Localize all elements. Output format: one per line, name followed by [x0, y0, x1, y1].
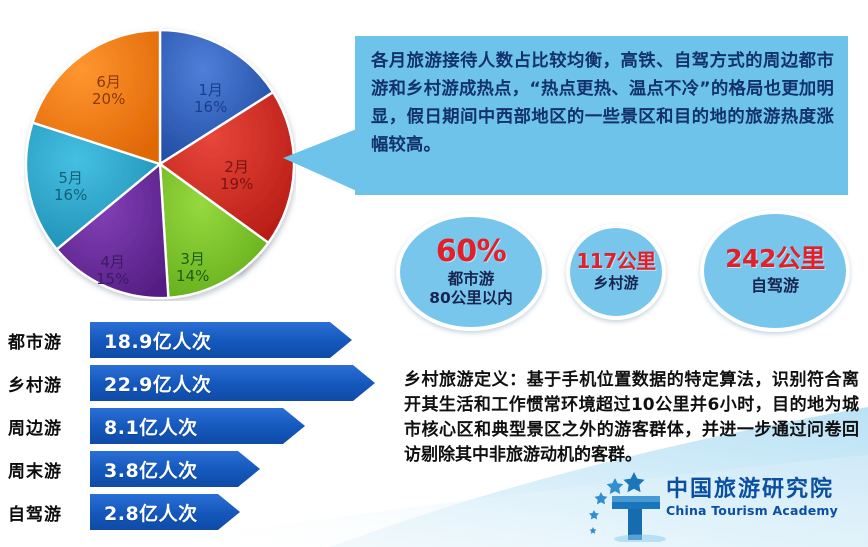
bar-category-label: 周边游 [8, 408, 86, 444]
badge-subtitle-line1: 都市游 [448, 270, 495, 289]
bar-arrow-shape: 22.9亿人次 [90, 365, 375, 401]
badge-headline-value: 60% [436, 237, 506, 267]
bar-value-label: 2.8亿人次 [104, 499, 198, 526]
bar-row: 自驾游 2.8亿人次 [0, 494, 395, 537]
stat-badge-urban-travel: 60% 都市游 80公里以内 [396, 213, 546, 331]
bar-row: 周末游 3.8亿人次 [0, 451, 395, 494]
china-tourism-academy-logo: 中国旅游研究院 China Tourism Academy [588, 470, 860, 542]
bar-category-label: 乡村游 [8, 365, 86, 401]
bar-value-label: 8.1亿人次 [104, 413, 198, 440]
bar-arrow-shape: 18.9亿人次 [90, 322, 352, 358]
bar-value-label: 18.9亿人次 [104, 327, 211, 354]
stat-badge-selfdrive-travel: 242公里 自驾游 [700, 210, 850, 332]
bar-row: 都市游 18.9亿人次 [0, 322, 395, 365]
travel-type-arrow-bar-chart: 都市游 18.9亿人次 乡村游 22.9亿人次 周边游 8.1亿人次 周末游 3… [0, 322, 395, 537]
bar-category-label: 都市游 [8, 322, 86, 358]
pie-chart-svg [24, 26, 296, 301]
stat-badge-rural-travel: 117公里 乡村游 [566, 224, 666, 320]
infographic-canvas: 1月 16% 2月 19% 3月 14% 4月 15% 5月 16% 6月 20… [0, 0, 868, 547]
logo-wordmark: 中国旅游研究院 China Tourism Academy [666, 478, 862, 518]
bar-category-label: 周末游 [8, 451, 86, 487]
badge-headline-value: 117公里 [576, 251, 655, 271]
rural-tourism-definition: 乡村旅游定义：基于手机位置数据的特定算法，识别符合离开其生活和工作惯常环境超过1… [404, 368, 859, 468]
bar-arrow-shape: 8.1亿人次 [90, 408, 305, 444]
logo-name-chinese: 中国旅游研究院 [666, 478, 862, 502]
bar-row: 周边游 8.1亿人次 [0, 408, 395, 451]
bar-arrow-shape: 2.8亿人次 [90, 494, 240, 530]
bar-category-label: 自驾游 [8, 494, 86, 530]
badge-subtitle-line1: 自驾游 [751, 276, 799, 296]
badge-subtitle-line1: 乡村游 [593, 274, 638, 292]
logo-name-english: China Tourism Academy [666, 503, 862, 518]
bar-value-label: 3.8亿人次 [104, 456, 198, 483]
badge-subtitle-line2: 80公里以内 [429, 289, 513, 308]
definition-term: 乡村旅游定义： [404, 370, 527, 390]
insight-callout-box: 各月旅游接待人数占比较均衡，高铁、自驾方式的周边都市游和乡村游成热点，“热点更热… [355, 36, 848, 195]
badge-headline-value: 242公里 [725, 246, 825, 271]
bar-row: 乡村游 22.9亿人次 [0, 365, 395, 408]
insight-callout-text: 各月旅游接待人数占比较均衡，高铁、自驾方式的周边都市游和乡村游成热点，“热点更热… [371, 47, 834, 159]
bar-value-label: 22.9亿人次 [104, 370, 211, 397]
monthly-visitor-share-pie-chart: 1月 16% 2月 19% 3月 14% 4月 15% 5月 16% 6月 20… [24, 26, 296, 301]
bar-arrow-shape: 3.8亿人次 [90, 451, 260, 487]
